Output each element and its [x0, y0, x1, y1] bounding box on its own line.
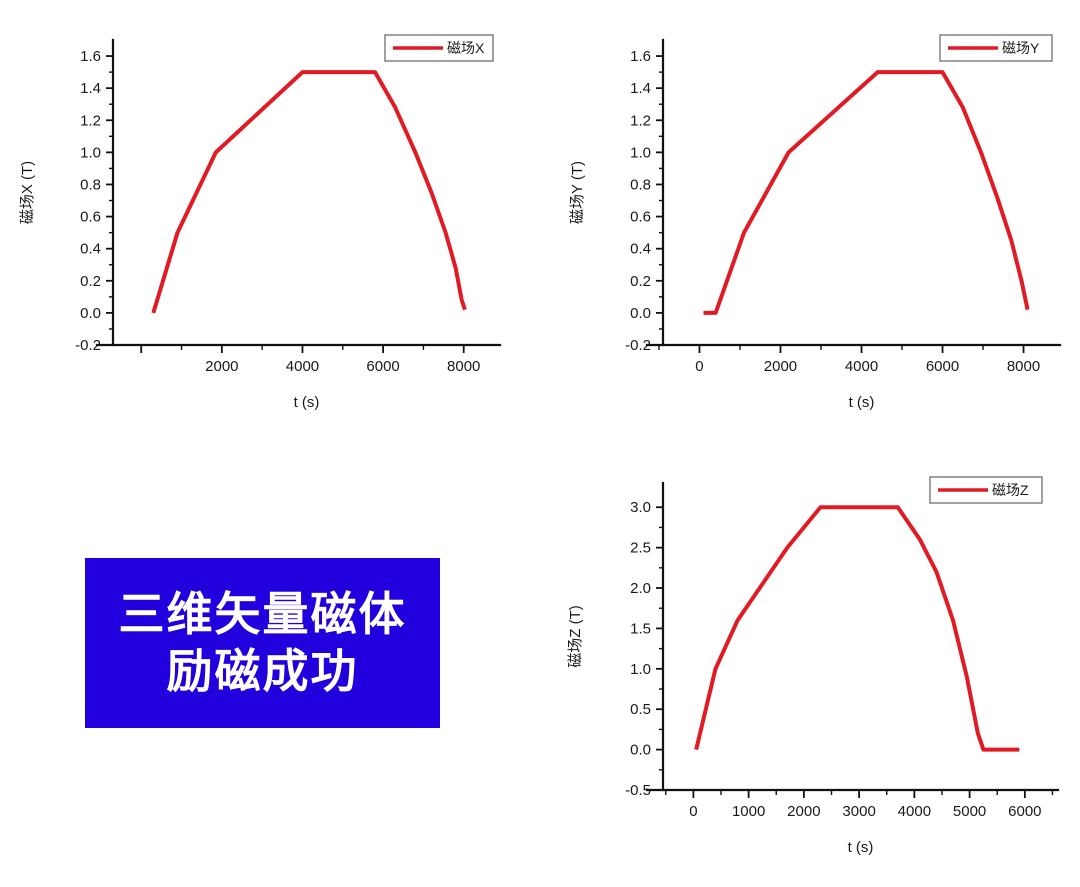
chart-svg-magnetic-field-x: -0.20.00.20.40.60.81.01.21.41.6200040006…	[0, 10, 530, 420]
y-tick-label-magnetic-field-z: 3.0	[630, 499, 651, 516]
y-axis-title-magnetic-field-z: 磁场Z (T)	[567, 605, 584, 667]
y-tick-label-magnetic-field-y: 0.4	[630, 241, 651, 258]
y-axis-title-group-magnetic-field-x: 磁场X (T)	[19, 161, 36, 224]
chart-svg-magnetic-field-y: -0.20.00.20.40.60.81.01.21.41.6020004000…	[550, 10, 1080, 420]
y-axis-title-group-magnetic-field-y: 磁场Y (T)	[569, 161, 586, 224]
y-tick-label-magnetic-field-x: 0.6	[80, 209, 101, 226]
legend-label-magnetic-field-y: 磁场Y	[1002, 40, 1040, 56]
legend-label-magnetic-field-x: 磁场X	[447, 40, 485, 56]
y-tick-label-magnetic-field-z: 0.5	[630, 701, 651, 718]
x-axis-title-magnetic-field-y: t (s)	[849, 394, 875, 411]
status-banner: 三维矢量磁体 励磁成功	[85, 558, 440, 728]
x-tick-label-magnetic-field-y: 4000	[845, 358, 878, 375]
legend-label-magnetic-field-z: 磁场Z	[992, 482, 1029, 498]
y-tick-label-magnetic-field-x: 0.0	[80, 305, 101, 322]
y-tick-label-magnetic-field-z: -0.5	[625, 782, 651, 799]
y-tick-label-magnetic-field-y: -0.2	[625, 337, 651, 354]
y-tick-label-magnetic-field-z: 2.0	[630, 580, 651, 597]
x-axis-title-magnetic-field-x: t (s)	[294, 394, 320, 411]
y-tick-label-magnetic-field-z: 0.0	[630, 742, 651, 759]
series-line-magnetic-field-x	[153, 72, 465, 313]
legend-magnetic-field-x: 磁场X	[385, 35, 493, 61]
y-tick-label-magnetic-field-x: 1.2	[80, 112, 101, 129]
x-tick-label-magnetic-field-x: 8000	[447, 358, 480, 375]
series-line-magnetic-field-y	[704, 72, 1028, 313]
y-tick-label-magnetic-field-x: 0.8	[80, 176, 101, 193]
y-tick-label-magnetic-field-y: 0.8	[630, 176, 651, 193]
y-tick-label-magnetic-field-y: 0.2	[630, 273, 651, 290]
series-line-magnetic-field-z	[696, 507, 1019, 749]
x-tick-label-magnetic-field-y: 8000	[1007, 358, 1040, 375]
x-tick-label-magnetic-field-z: 2000	[787, 803, 820, 820]
x-tick-label-magnetic-field-z: 3000	[842, 803, 875, 820]
y-tick-label-magnetic-field-z: 1.0	[630, 661, 651, 678]
y-tick-label-magnetic-field-y: 1.6	[630, 48, 651, 65]
y-tick-label-magnetic-field-x: 1.0	[80, 144, 101, 161]
chart-panel-magnetic-field-z: -0.50.00.51.01.52.02.53.0010002000300040…	[550, 455, 1080, 875]
y-tick-label-magnetic-field-z: 2.5	[630, 540, 651, 557]
y-axis-title-group-magnetic-field-z: 磁场Z (T)	[567, 605, 584, 667]
y-tick-label-magnetic-field-y: 0.6	[630, 209, 651, 226]
x-tick-label-magnetic-field-x: 6000	[366, 358, 399, 375]
chart-svg-magnetic-field-z: -0.50.00.51.01.52.02.53.0010002000300040…	[550, 455, 1080, 875]
x-tick-label-magnetic-field-y: 0	[695, 358, 703, 375]
x-tick-label-magnetic-field-x: 4000	[286, 358, 319, 375]
y-tick-label-magnetic-field-y: 1.2	[630, 112, 651, 129]
x-tick-label-magnetic-field-z: 4000	[898, 803, 931, 820]
y-tick-label-magnetic-field-z: 1.5	[630, 620, 651, 637]
x-tick-label-magnetic-field-z: 6000	[1008, 803, 1041, 820]
y-tick-label-magnetic-field-y: 0.0	[630, 305, 651, 322]
y-tick-label-magnetic-field-x: -0.2	[75, 337, 101, 354]
x-tick-label-magnetic-field-z: 5000	[953, 803, 986, 820]
legend-magnetic-field-z: 磁场Z	[930, 477, 1042, 503]
y-tick-label-magnetic-field-y: 1.0	[630, 144, 651, 161]
y-tick-label-magnetic-field-x: 1.4	[80, 80, 101, 97]
y-axis-title-magnetic-field-y: 磁场Y (T)	[569, 161, 586, 224]
x-axis-title-magnetic-field-z: t (s)	[848, 839, 874, 856]
y-tick-label-magnetic-field-y: 1.4	[630, 80, 651, 97]
x-tick-label-magnetic-field-z: 1000	[732, 803, 765, 820]
y-axis-title-magnetic-field-x: 磁场X (T)	[19, 161, 36, 224]
y-tick-label-magnetic-field-x: 0.2	[80, 273, 101, 290]
chart-panel-magnetic-field-y: -0.20.00.20.40.60.81.01.21.41.6020004000…	[550, 10, 1080, 420]
y-tick-label-magnetic-field-x: 1.6	[80, 48, 101, 65]
x-tick-label-magnetic-field-y: 6000	[926, 358, 959, 375]
banner-line-2: 励磁成功	[167, 643, 359, 701]
y-tick-label-magnetic-field-x: 0.4	[80, 241, 101, 258]
legend-magnetic-field-y: 磁场Y	[940, 35, 1052, 61]
chart-panel-magnetic-field-x: -0.20.00.20.40.60.81.01.21.41.6200040006…	[0, 10, 530, 420]
banner-line-1: 三维矢量磁体	[119, 586, 407, 644]
x-tick-label-magnetic-field-z: 0	[689, 803, 697, 820]
x-tick-label-magnetic-field-x: 2000	[205, 358, 238, 375]
x-tick-label-magnetic-field-y: 2000	[764, 358, 797, 375]
